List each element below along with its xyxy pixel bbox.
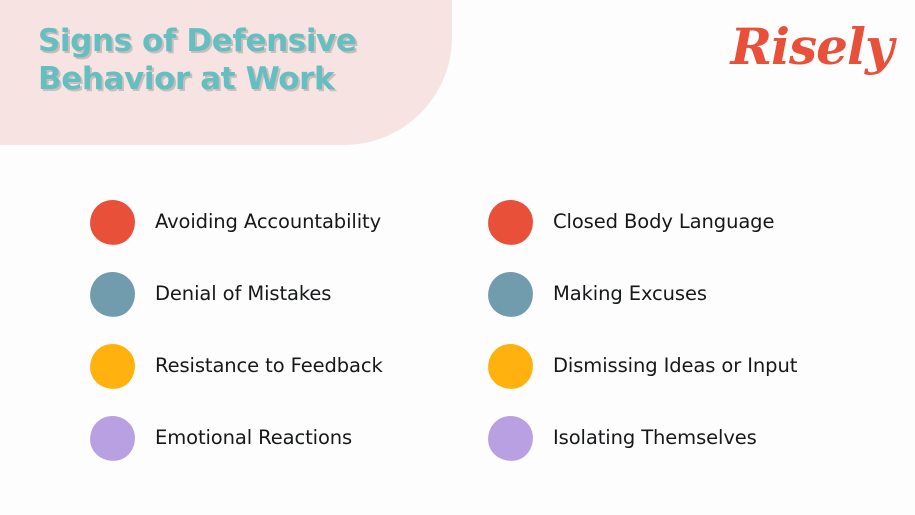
list-item-label: Emotional Reactions	[155, 426, 352, 450]
signs-column-left: Avoiding Accountability Denial of Mistak…	[90, 186, 510, 474]
signs-column-right: Closed Body Language Making Excuses Dism…	[488, 186, 908, 474]
dot-red-icon	[485, 197, 535, 247]
page-title-line-1: Signs of Defensive	[38, 22, 438, 60]
header-banner: Signs of Defensive Behavior at Work	[0, 0, 452, 145]
list-item: Denial of Mistakes	[90, 258, 510, 330]
list-item: Making Excuses	[488, 258, 908, 330]
dot-purple-icon	[485, 413, 535, 463]
list-item-label: Isolating Themselves	[553, 426, 757, 450]
infographic-slide: Signs of Defensive Behavior at Work Rise…	[0, 0, 915, 515]
dot-purple-icon	[87, 413, 137, 463]
list-item-label: Resistance to Feedback	[155, 354, 383, 378]
dot-red-icon	[87, 197, 137, 247]
list-item-label: Denial of Mistakes	[155, 282, 331, 306]
dot-amber-icon	[485, 341, 535, 391]
page-title: Signs of Defensive Behavior at Work	[38, 22, 438, 98]
list-item: Closed Body Language	[488, 186, 908, 258]
list-item-label: Making Excuses	[553, 282, 707, 306]
page-title-line-2: Behavior at Work	[38, 60, 438, 98]
list-item-label: Closed Body Language	[553, 210, 774, 234]
dot-slate-blue-icon	[87, 269, 137, 319]
list-item-label: Dismissing Ideas or Input	[553, 354, 797, 378]
list-item: Dismissing Ideas or Input	[488, 330, 908, 402]
signs-list: Avoiding Accountability Denial of Mistak…	[0, 186, 915, 486]
list-item: Emotional Reactions	[90, 402, 510, 474]
list-item: Isolating Themselves	[488, 402, 908, 474]
list-item: Resistance to Feedback	[90, 330, 510, 402]
dot-amber-icon	[87, 341, 137, 391]
brand-logo: Risely	[730, 16, 893, 78]
dot-slate-blue-icon	[485, 269, 535, 319]
list-item-label: Avoiding Accountability	[155, 210, 381, 234]
list-item: Avoiding Accountability	[90, 186, 510, 258]
